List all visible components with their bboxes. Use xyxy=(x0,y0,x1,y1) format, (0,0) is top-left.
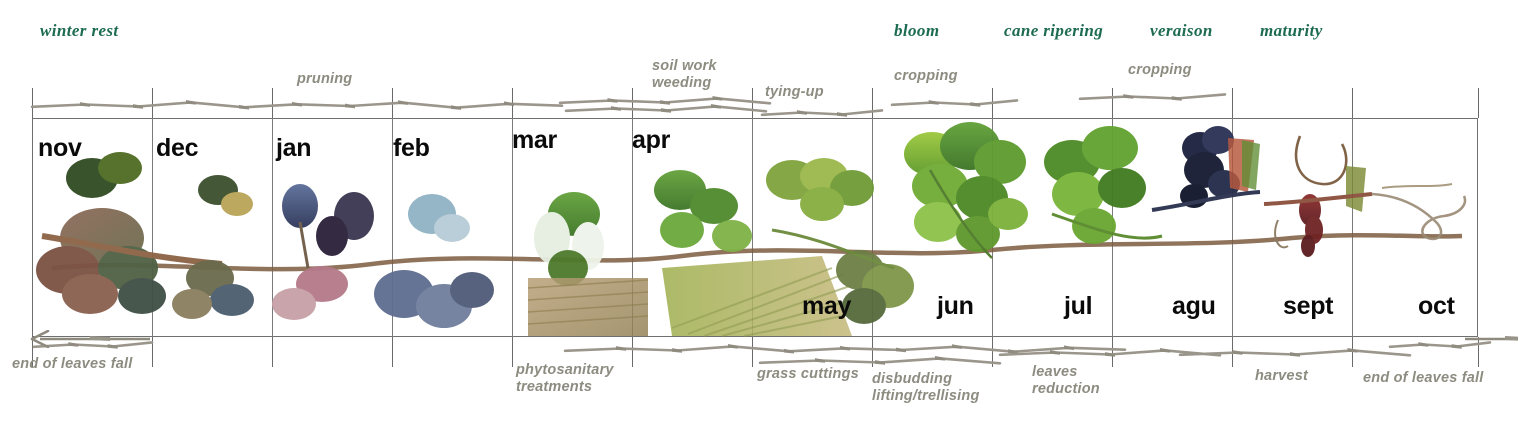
grid-tick-top-0 xyxy=(32,88,33,118)
stage-label-cane-ripering: cane ripering xyxy=(1004,21,1103,41)
stage-label-veraison: veraison xyxy=(1150,21,1213,41)
task-label-cropping: cropping xyxy=(894,68,958,85)
grid-tick-bottom-2 xyxy=(272,337,273,367)
month-label-may: may xyxy=(802,292,851,321)
phytosanitary-bar xyxy=(565,344,1125,354)
left-arrow xyxy=(30,330,160,348)
cropping-bar-1 xyxy=(892,98,1017,108)
grid-tick-bottom-4 xyxy=(512,337,513,367)
month-label-jan: jan xyxy=(276,134,311,163)
grid-tick-bottom-11 xyxy=(1352,337,1353,367)
grid-tick-top-8 xyxy=(992,88,993,118)
tying-up-bar xyxy=(762,108,882,118)
pruning-bar-2 xyxy=(560,96,770,106)
month-label-jul: jul xyxy=(1064,292,1092,321)
grid-tick-bottom-10 xyxy=(1232,337,1233,367)
leaves-reduction-bar xyxy=(1000,348,1220,358)
stage-label-bloom: bloom xyxy=(894,21,939,41)
grid-tick-bottom-5 xyxy=(632,337,633,367)
stage-label-winter-rest: winter rest xyxy=(40,21,119,41)
timeline-figure: winter restbloomcane riperingveraisonmat… xyxy=(0,0,1518,429)
grid-tick-top-10 xyxy=(1232,88,1233,118)
grid-tick-top-3 xyxy=(392,88,393,118)
grid-tick-top-6 xyxy=(752,88,753,118)
grid-tick-top-4 xyxy=(512,88,513,118)
right-arrow xyxy=(1455,330,1518,348)
pruning-bar xyxy=(32,100,562,110)
task-label-soil-work-weeding: soil work weeding xyxy=(652,58,717,92)
soil-work-bar xyxy=(566,104,766,114)
task-label-harvest: harvest xyxy=(1255,368,1308,385)
task-label-end-of-leaves-fall: end of leaves fall xyxy=(1363,370,1483,387)
month-label-sept: sept xyxy=(1283,292,1333,321)
grid-tick-bottom-7 xyxy=(872,337,873,367)
month-label-jun: jun xyxy=(937,292,974,321)
grid-tick-top-1 xyxy=(152,88,153,118)
task-label-disbudding-lifting-trellising: disbudding lifting/trellising xyxy=(872,371,980,405)
task-label-tying-up: tying-up xyxy=(765,84,824,101)
month-label-nov: nov xyxy=(38,134,82,163)
grid-tick-top-5 xyxy=(632,88,633,118)
task-label-cropping: cropping xyxy=(1128,62,1192,79)
task-label-pruning: pruning xyxy=(297,71,352,88)
grid-tick-top-11 xyxy=(1352,88,1353,118)
stage-label-maturity: maturity xyxy=(1260,21,1323,41)
cropping-bar-2 xyxy=(1080,92,1225,102)
grid-tick-bottom-6 xyxy=(752,337,753,367)
grass-cuttings-bar xyxy=(760,356,1000,366)
task-label-leaves-reduction: leaves reduction xyxy=(1032,364,1100,398)
month-label-apr: apr xyxy=(632,126,670,155)
grid-tick-bottom-3 xyxy=(392,337,393,367)
task-label-end-of-leaves-fall: end of leaves fall xyxy=(12,356,132,373)
grid-tick-top-9 xyxy=(1112,88,1113,118)
grid-tick-bottom-9 xyxy=(1112,337,1113,367)
task-label-grass-cuttings: grass cuttings xyxy=(757,366,859,383)
month-label-dec: dec xyxy=(156,134,198,163)
month-label-oct: oct xyxy=(1418,292,1455,321)
task-label-phytosanitary-treatments: phytosanitary treatments xyxy=(516,362,614,396)
month-label-agu: agu xyxy=(1172,292,1216,321)
grapevine-illustration xyxy=(32,118,1478,337)
month-label-feb: feb xyxy=(393,134,430,163)
grid-tick-bottom-8 xyxy=(992,337,993,367)
grid-tick-top-2 xyxy=(272,88,273,118)
grid-tick-top-12 xyxy=(1478,88,1479,118)
month-label-mar: mar xyxy=(512,126,557,155)
grid-tick-top-7 xyxy=(872,88,873,118)
harvest-bar xyxy=(1180,348,1410,358)
